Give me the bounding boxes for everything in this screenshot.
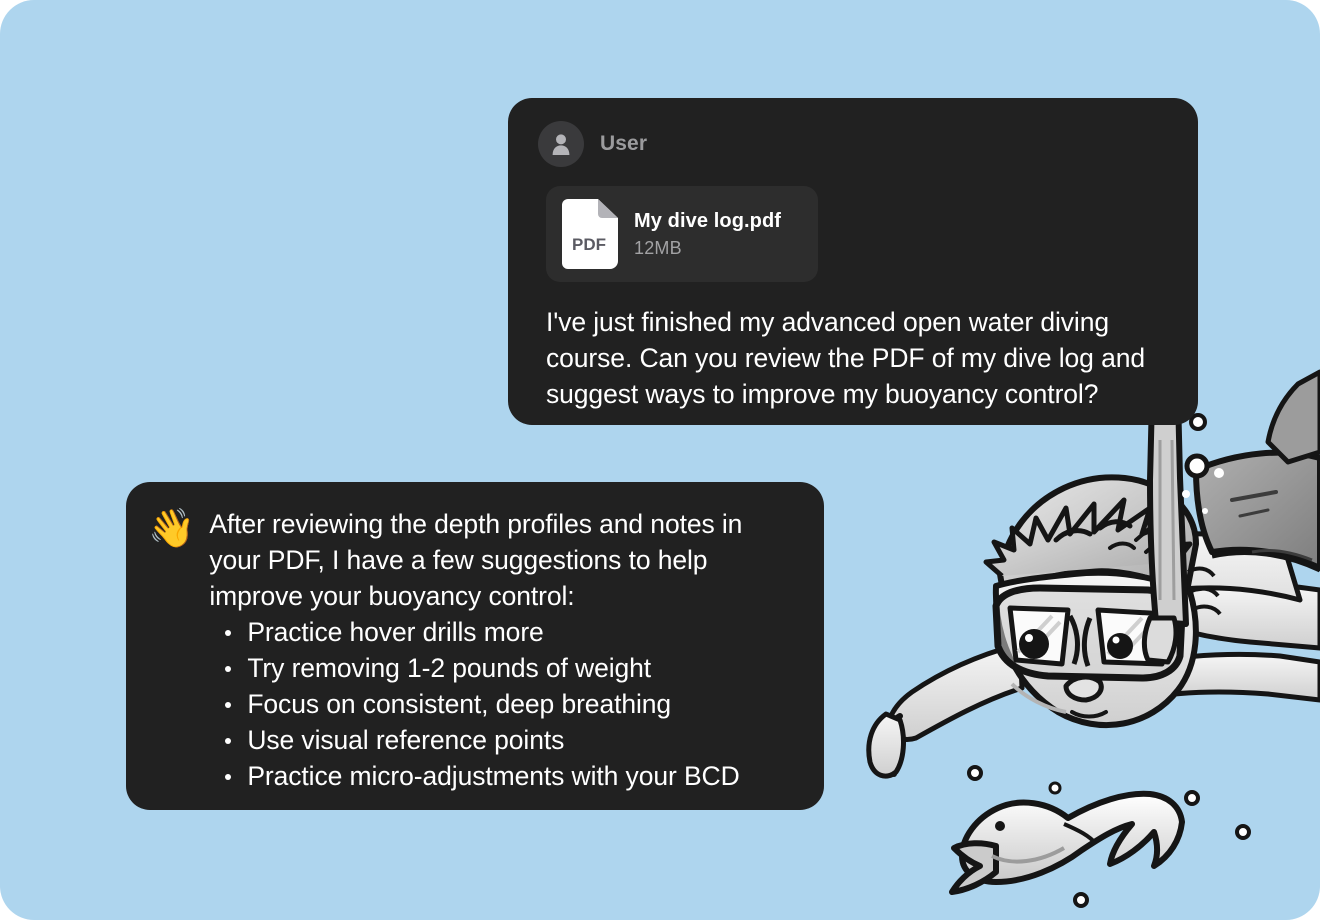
fish-group — [952, 794, 1182, 892]
assistant-message-bubble: 👋 After reviewing the depth profiles and… — [126, 482, 824, 810]
message-author-name: User — [600, 132, 647, 156]
list-item: Practice hover drills more — [247, 614, 796, 650]
pdf-attachment-card[interactable]: PDF My dive log.pdf 12MB — [546, 186, 818, 282]
list-item: Practice micro-adjustments with your BCD — [247, 758, 796, 794]
user-message-bubble: User PDF My dive log.pdf 12MB I've just … — [508, 98, 1198, 425]
user-message-header: User — [538, 120, 1172, 168]
pdf-file-icon: PDF — [562, 199, 618, 269]
diver-group — [869, 372, 1320, 776]
attachment-meta: My dive log.pdf 12MB — [634, 210, 781, 259]
person-avatar-icon — [538, 121, 584, 167]
user-message-text: I've just finished my advanced open wate… — [546, 304, 1196, 412]
assistant-content-column: After reviewing the depth profiles and n… — [209, 506, 796, 794]
list-item: Focus on consistent, deep breathing — [247, 686, 796, 722]
attachment-file-size: 12MB — [634, 238, 781, 259]
suggestions-list: Practice hover drills more Try removing … — [209, 614, 796, 794]
waving-hand-icon: 👋 — [148, 508, 195, 548]
list-item: Use visual reference points — [247, 722, 796, 758]
screenshot-canvas: User PDF My dive log.pdf 12MB I've just … — [0, 0, 1320, 920]
assistant-intro-text: After reviewing the depth profiles and n… — [209, 506, 769, 614]
svg-text:PDF: PDF — [572, 235, 606, 254]
assistant-message-body: 👋 After reviewing the depth profiles and… — [148, 506, 796, 794]
attachment-file-name: My dive log.pdf — [634, 210, 781, 233]
list-item: Try removing 1-2 pounds of weight — [247, 650, 796, 686]
